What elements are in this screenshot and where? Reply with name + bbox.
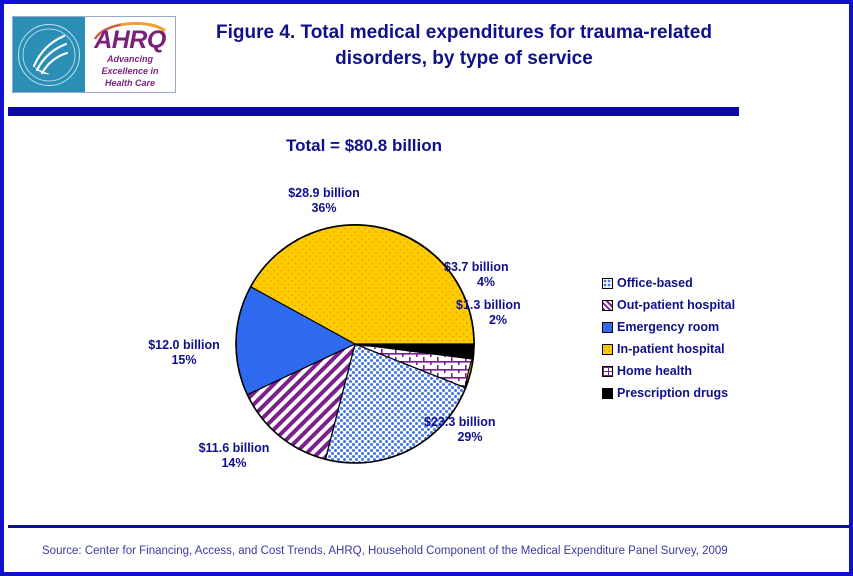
legend-label: Office-based bbox=[617, 276, 693, 290]
ahrq-acronym: AHRQ bbox=[94, 28, 166, 53]
seal-bird-icon bbox=[20, 26, 78, 84]
legend-label: Prescription drugs bbox=[617, 386, 728, 400]
ahrq-tagline-3: Health Care bbox=[105, 78, 155, 89]
solid-blue-swatch bbox=[602, 322, 613, 333]
callout-amount: $23.3 billion bbox=[424, 415, 554, 430]
figure-title: Figure 4. Total medical expenditures for… bbox=[184, 20, 744, 72]
callout-amount: $11.6 billion bbox=[164, 441, 304, 456]
ahrq-tagline-1: Advancing bbox=[107, 54, 153, 65]
ahrq-wordmark: AHRQ Advancing Excellence in Health Care bbox=[85, 17, 175, 92]
total-label: Total = $80.8 billion bbox=[4, 136, 724, 156]
legend-item-prescription-drugs: Prescription drugs bbox=[602, 382, 782, 404]
legend-label: In-patient hospital bbox=[617, 342, 725, 356]
callout-prescription-drugs: $1.3 billion 2% bbox=[456, 298, 576, 328]
legend-item-emergency-room: Emergency room bbox=[602, 316, 782, 338]
hhs-seal-icon bbox=[13, 17, 85, 92]
legend-item-office-based: Office-based bbox=[602, 272, 782, 294]
callout-percent: 29% bbox=[424, 430, 516, 445]
callout-home-health: $3.7 billion 4% bbox=[444, 260, 564, 290]
legend-item-home-health: Home health bbox=[602, 360, 782, 382]
figure-header: AHRQ Advancing Excellence in Health Care… bbox=[4, 4, 849, 100]
purple-brick-swatch bbox=[602, 366, 613, 377]
callout-percent: 4% bbox=[444, 275, 528, 290]
callout-emergency-room: $12.0 billion 15% bbox=[114, 338, 254, 368]
callout-office-based: $23.3 billion 29% bbox=[424, 415, 554, 445]
callout-amount: $12.0 billion bbox=[114, 338, 254, 353]
chart-legend: Office-based Out-patient hospital Emerge… bbox=[602, 272, 782, 404]
callout-percent: 15% bbox=[114, 353, 254, 368]
legend-label: Out-patient hospital bbox=[617, 298, 735, 312]
source-note: Source: Center for Financing, Access, an… bbox=[42, 544, 832, 558]
solid-black-swatch bbox=[602, 388, 613, 399]
legend-item-in-patient-hospital: In-patient hospital bbox=[602, 338, 782, 360]
callout-amount: $28.9 billion bbox=[249, 186, 399, 201]
legend-label: Emergency room bbox=[617, 320, 719, 334]
callout-in-patient-hospital: $28.9 billion 36% bbox=[249, 186, 399, 216]
purple-diagonal-swatch bbox=[602, 300, 613, 311]
callout-amount: $1.3 billion bbox=[456, 298, 576, 313]
ahrq-tagline-2: Excellence in bbox=[101, 66, 158, 77]
figure-page: AHRQ Advancing Excellence in Health Care… bbox=[0, 0, 853, 576]
legend-item-out-patient-hospital: Out-patient hospital bbox=[602, 294, 782, 316]
callout-amount: $3.7 billion bbox=[444, 260, 564, 275]
callout-out-patient-hospital: $11.6 billion 14% bbox=[164, 441, 304, 471]
callout-percent: 14% bbox=[164, 456, 304, 471]
ahrq-logo: AHRQ Advancing Excellence in Health Care bbox=[12, 16, 176, 93]
yellow-dotted-swatch bbox=[602, 344, 613, 355]
callout-percent: 2% bbox=[456, 313, 540, 328]
callout-percent: 36% bbox=[249, 201, 399, 216]
footer-divider bbox=[8, 525, 853, 528]
blue-dotted-swatch bbox=[602, 278, 613, 289]
header-divider bbox=[8, 107, 739, 116]
legend-label: Home health bbox=[617, 364, 692, 378]
